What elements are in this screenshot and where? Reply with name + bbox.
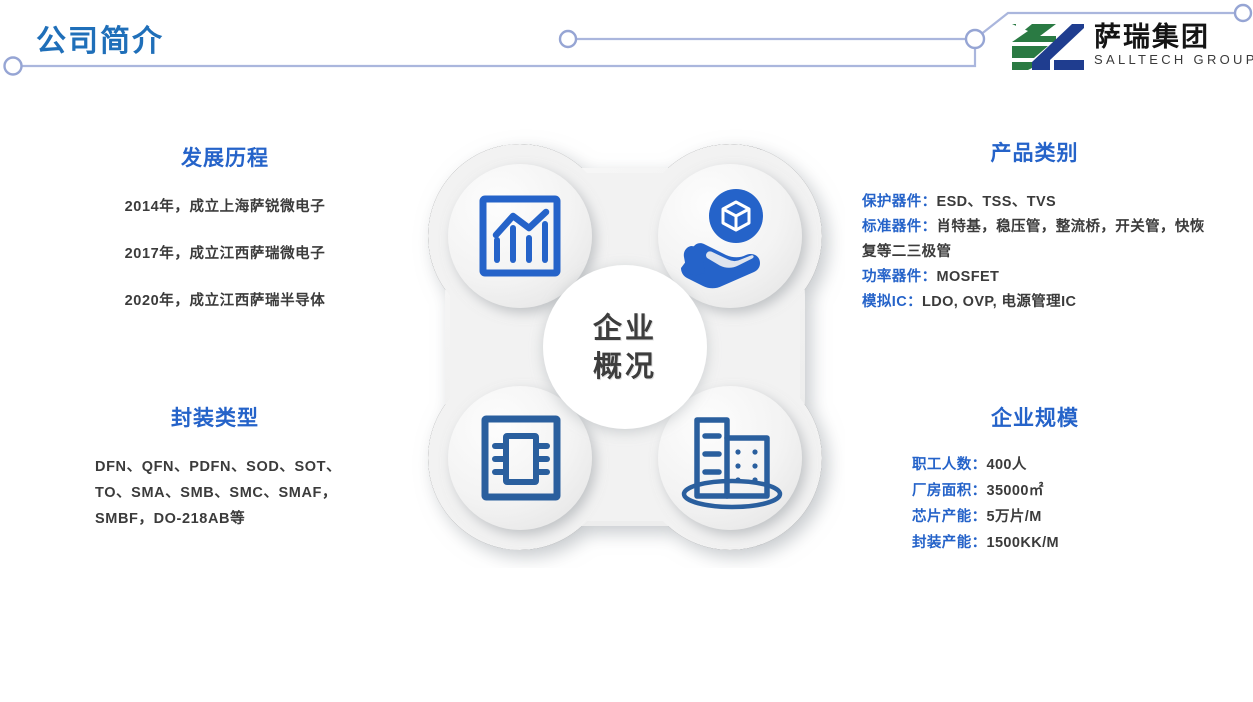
scale-value-2: 35000㎡ <box>987 483 1044 499</box>
product-row-2: 标准器件：肖特基，稳压管，整流桥，开关管，快恢复等二三极管 <box>862 215 1207 265</box>
page-title: 公司简介 <box>36 16 164 60</box>
section-company-scale: 企业规模 职工人数：400人 厂房面积：35000㎡ 芯片产能：5万片/M 封装… <box>880 402 1190 556</box>
product-value-3: MOSFET <box>937 269 1000 285</box>
scale-row-2: 厂房面积：35000㎡ <box>880 478 1190 504</box>
deco-node-mid-icon <box>560 31 576 47</box>
product-key-3: 功率器件： <box>862 269 937 285</box>
center-diagram: 企业 概况 <box>405 128 845 568</box>
product-key-2: 标准器件： <box>862 219 937 235</box>
deco-node-left-icon <box>5 58 22 75</box>
scale-key-4: 封装产能： <box>912 535 987 551</box>
history-item-1: 2014年，成立上海萨锐微电子 <box>60 198 390 216</box>
company-logo: 萨瑞集团 SALLTECH GROUP <box>1010 22 1242 77</box>
scale-key-3: 芯片产能： <box>912 509 987 525</box>
history-item-2: 2017年，成立江西萨瑞微电子 <box>60 245 390 263</box>
section-scale-title: 企业规模 <box>880 402 1190 432</box>
scale-row-1: 职工人数：400人 <box>880 452 1190 478</box>
product-row-1: 保护器件：ESD、TSS、TVS <box>862 190 1207 215</box>
product-row-3: 功率器件：MOSFET <box>862 265 1207 290</box>
package-types-text: DFN、QFN、PDFN、SOD、SOT、TO、SMA、SMB、SMC、SMAF… <box>60 454 370 532</box>
section-history-title: 发展历程 <box>60 142 390 172</box>
section-product-categories: 产品类别 保护器件：ESD、TSS、TVS 标准器件：肖特基，稳压管，整流桥，开… <box>862 137 1207 315</box>
deco-node-right-icon <box>1235 5 1251 21</box>
deco-node-junction-icon <box>966 30 984 48</box>
scale-row-3: 芯片产能：5万片/M <box>880 504 1190 530</box>
page-header: 公司简介 萨瑞集团 SALLTECH GROUP <box>0 0 1253 92</box>
product-key-1: 保护器件： <box>862 194 937 210</box>
section-package-types: 封装类型 DFN、QFN、PDFN、SOD、SOT、TO、SMA、SMB、SMC… <box>60 402 370 532</box>
section-package-title: 封装类型 <box>60 402 370 432</box>
scale-value-4: 1500KK/M <box>987 535 1060 551</box>
scale-key-1: 职工人数： <box>912 457 987 473</box>
logo-name-en: SALLTECH GROUP <box>1094 52 1242 68</box>
logo-text: 萨瑞集团 SALLTECH GROUP <box>1094 22 1242 74</box>
product-value-1: ESD、TSS、TVS <box>937 194 1057 210</box>
product-value-4: LDO, OVP, 电源管理IC <box>922 294 1076 310</box>
center-circle <box>543 265 707 429</box>
scale-key-2: 厂房面积： <box>912 483 987 499</box>
section-history: 发展历程 2014年，成立上海萨锐微电子 2017年，成立江西萨瑞微电子 202… <box>60 142 390 310</box>
scale-value-1: 400人 <box>987 457 1027 473</box>
section-product-title: 产品类别 <box>862 137 1207 167</box>
product-row-4: 模拟IC：LDO, OVP, 电源管理IC <box>862 290 1207 315</box>
salltech-logo-mark-icon <box>1010 22 1088 72</box>
history-item-3: 2020年，成立江西萨瑞半导体 <box>60 292 390 310</box>
logo-name-cn: 萨瑞集团 <box>1094 22 1242 52</box>
scale-row-4: 封装产能：1500KK/M <box>880 530 1190 556</box>
scale-value-3: 5万片/M <box>987 509 1042 525</box>
product-key-4: 模拟IC： <box>862 294 922 310</box>
